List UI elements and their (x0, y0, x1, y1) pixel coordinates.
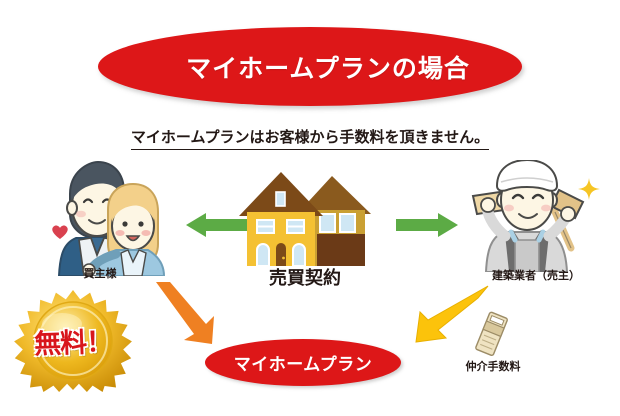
couple-illustration (36, 158, 166, 276)
title-ellipse: マイホームプランの場合 (98, 27, 522, 106)
money-bundle-icon (472, 310, 512, 358)
carpenter-illustration (467, 160, 595, 272)
free-badge: 無料！ (12, 288, 134, 392)
buyer-label: 買主様 (55, 265, 145, 281)
page-title: マイホームプランの場合 (186, 49, 470, 85)
free-badge-label: 無料！ (10, 286, 136, 394)
plan-ellipse: マイホームプラン (205, 339, 401, 386)
arrow-contract-to-builder (396, 211, 458, 239)
subtitle: マイホームプランはお客様から手数料を頂きません。 (0, 126, 620, 150)
fee-label: 仲介手数料 (447, 358, 539, 374)
heart-icon (50, 222, 70, 242)
house-illustration (237, 168, 373, 266)
plan-label: マイホームプラン (234, 350, 372, 375)
contract-label: 売買契約 (245, 264, 365, 290)
diagram-canvas: マイホームプランの場合 マイホームプランはお客様から手数料を頂きません。 (0, 0, 620, 416)
sparkle-icon (578, 178, 600, 200)
builder-label: 建築業者（売主） (481, 267, 591, 283)
subtitle-text: マイホームプランはお客様から手数料を頂きません。 (131, 126, 489, 150)
arrow-buyer-to-plan (152, 282, 222, 348)
